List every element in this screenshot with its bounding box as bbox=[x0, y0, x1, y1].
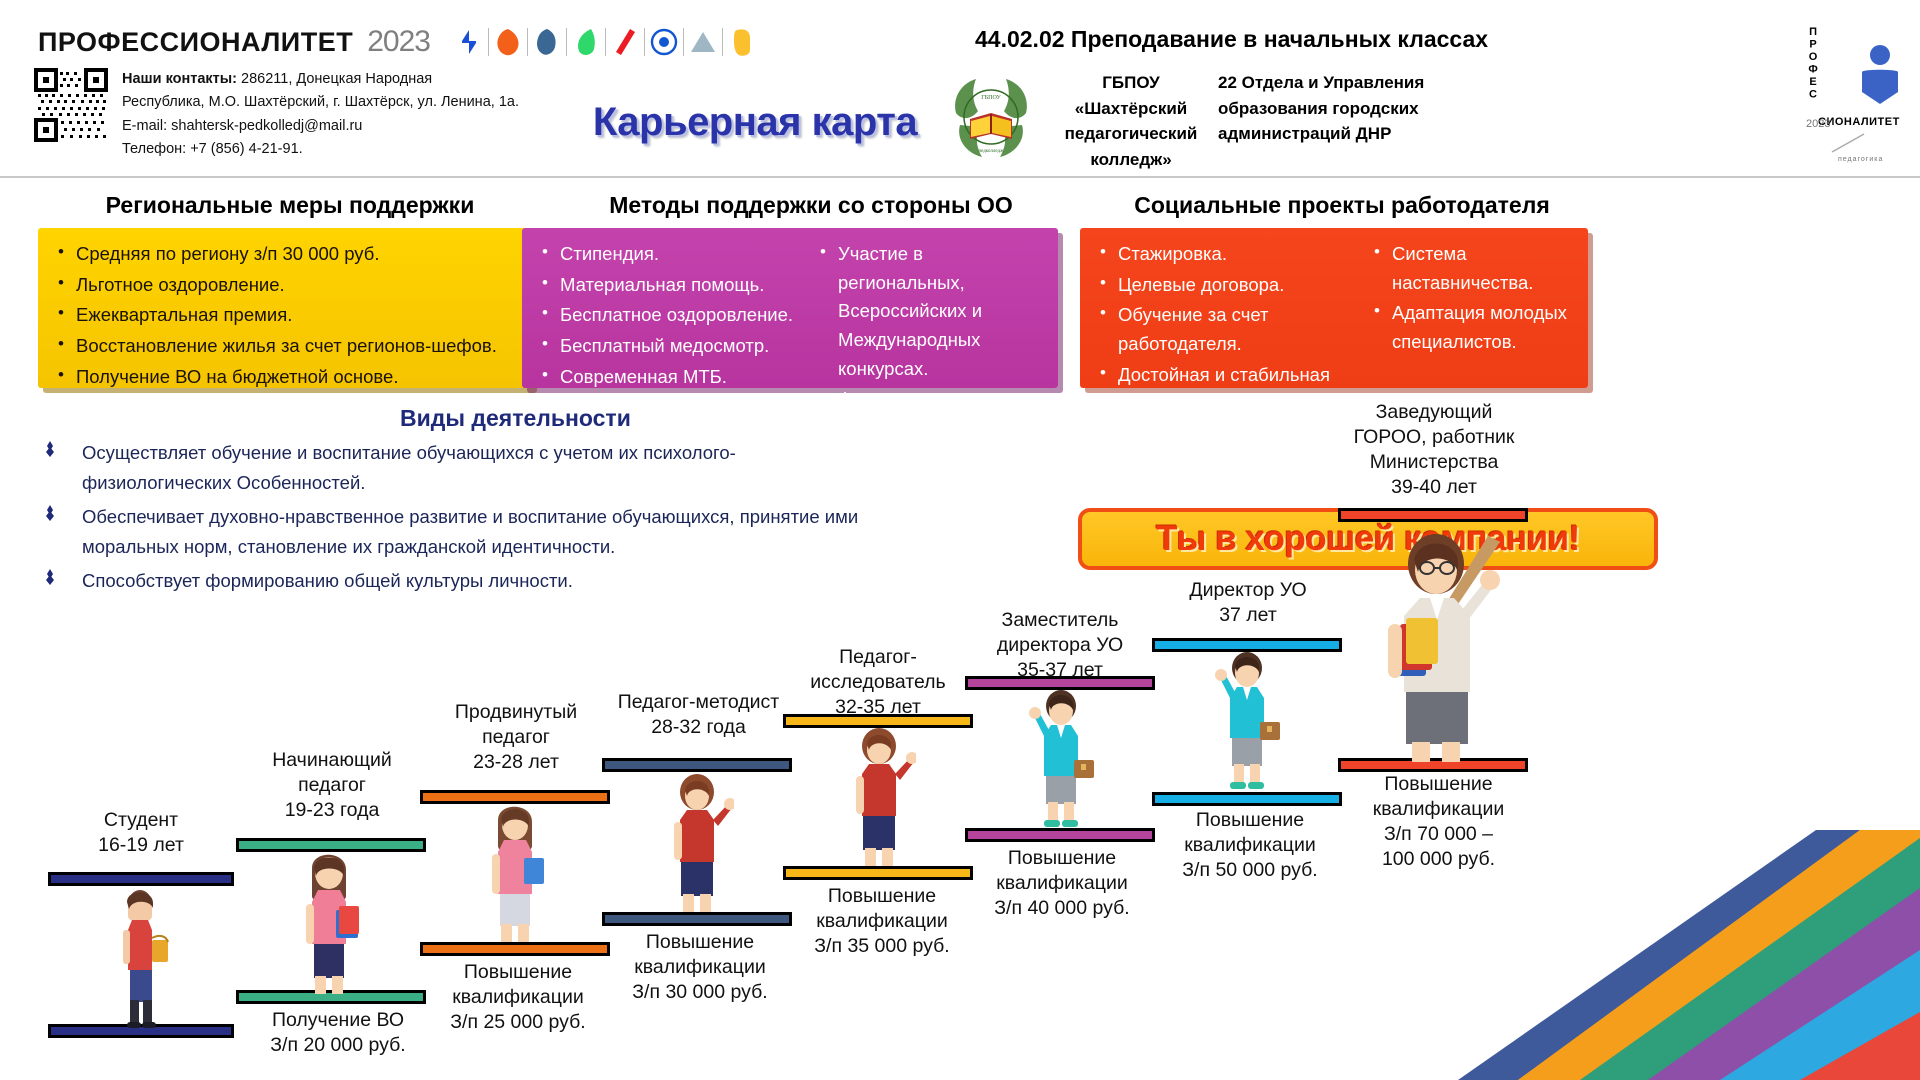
prof-year: 2023 bbox=[1806, 118, 1830, 130]
logo-orange-drop-icon bbox=[489, 22, 527, 62]
logo-red-slash-icon bbox=[606, 22, 644, 62]
role-age: 32-35 лет bbox=[778, 695, 978, 720]
panel-oo-support: Стипендия. Материальная помощь. Бесплатн… bbox=[522, 228, 1058, 388]
list-item: Система наставничества. bbox=[1368, 240, 1574, 297]
prof-subtitle: педагогика bbox=[1838, 156, 1883, 163]
ladder-label-student: Студент 16-19 лет bbox=[48, 808, 234, 858]
college-name: ГБПОУ «Шахтёрский педагогический колледж… bbox=[1048, 70, 1214, 172]
partner-logo-strip bbox=[450, 22, 761, 62]
ladder-label-methodist: Педагог-методист 28-32 года bbox=[596, 690, 801, 740]
panel-column: Система наставничества. Адаптация молоды… bbox=[1368, 240, 1574, 378]
specialty-code: 44.02.02 Преподавание в начальных класса… bbox=[975, 26, 1488, 53]
decorative-stripes bbox=[1200, 830, 1920, 1080]
contacts-phone: Телефон: +7 (856) 4-21-91. bbox=[122, 138, 519, 161]
panel-regional-support: Средняя по региону з/п 30 000 руб. Льгот… bbox=[38, 228, 532, 388]
role-name: Педагог- исследователь bbox=[778, 645, 978, 695]
diamond-bullet-icon bbox=[42, 569, 58, 585]
panel-title-oo-support: Методы поддержки со стороны ОО bbox=[556, 192, 1066, 219]
list-item: Получение ВО на бюджетной основе. bbox=[52, 363, 518, 392]
list-item: Стажировка. bbox=[1094, 240, 1362, 269]
role-age: 23-28 лет bbox=[416, 750, 616, 775]
ladder-label-director: Директор УО 37 лет bbox=[1148, 578, 1348, 628]
page-title: Карьерная карта bbox=[560, 100, 950, 145]
list-item: Материальная помощь. bbox=[536, 271, 808, 300]
list-item: Современная МТБ. bbox=[536, 363, 808, 392]
figure-advanced-teacher bbox=[478, 800, 552, 946]
college-emblem-icon: ГБПОУ педколледж bbox=[942, 73, 1040, 161]
contacts-address-1: 286211, Донецкая Народная bbox=[241, 71, 432, 87]
contacts-block: Наши контакты: 286211, Донецкая Народная… bbox=[34, 68, 519, 162]
activity-text: Способствует формированию общей культуры… bbox=[82, 570, 573, 591]
list-item: Обеспечивает духовно-нравственное развит… bbox=[36, 502, 876, 562]
ladder-label-deputy: Заместитель директора УО 35-37 лет bbox=[960, 608, 1160, 683]
header-divider bbox=[0, 176, 1920, 178]
panel-title-employer-projects: Социальные проекты работодателя bbox=[1082, 192, 1602, 219]
ladder-rung-director-base bbox=[1152, 792, 1342, 806]
logo-blue-drop-icon bbox=[528, 22, 566, 62]
figure-researcher bbox=[842, 724, 916, 870]
professionalitet-vertical-logo: ПРОФЕС СИОНАЛИТЕТ 2023 педагогика bbox=[1800, 20, 1918, 170]
svg-text:ГБПОУ: ГБПОУ bbox=[981, 95, 1001, 101]
ladder-rung-student-top bbox=[48, 872, 234, 886]
role-age: 19-23 года bbox=[232, 798, 432, 823]
qr-code-icon bbox=[34, 68, 108, 142]
list-item: Бесплатный медосмотр. bbox=[536, 332, 808, 361]
list-item: Стипендия. bbox=[536, 240, 808, 269]
logo-target-icon bbox=[645, 22, 683, 62]
list-item: Формирование цифрового портфолио. bbox=[814, 385, 1044, 442]
prof-slash-icon bbox=[1830, 132, 1868, 154]
career-map-poster: ПРОФЕССИОНАЛИТЕТ 2023 bbox=[0, 0, 1920, 1080]
list-item: Достойная и стабильная зарплата. bbox=[1094, 361, 1362, 418]
role-name: Заведующий ГОРОО, работник Министерства bbox=[1334, 400, 1534, 475]
logo-green-leaf-icon bbox=[567, 22, 605, 62]
list-item: Осуществляет обучение и воспитание обуча… bbox=[36, 438, 876, 498]
diamond-bullet-icon bbox=[42, 441, 58, 457]
panel-employer-projects: Стажировка. Целевые договора. Обучение з… bbox=[1080, 228, 1588, 388]
list-item: Средняя по региону з/п 30 000 руб. bbox=[52, 240, 518, 269]
activities-title: Виды деятельности bbox=[400, 405, 631, 432]
ladder-note-methodist: Повышение квалификации З/п 30 000 руб. bbox=[600, 930, 800, 1005]
panel-column: Стипендия. Материальная помощь. Бесплатн… bbox=[536, 240, 808, 378]
contacts-label: Наши контакты: bbox=[122, 71, 237, 87]
activity-text: Обеспечивает духовно-нравственное развит… bbox=[82, 506, 858, 557]
list-item: Обучение за счет работодателя. bbox=[1094, 301, 1362, 358]
brand-row: ПРОФЕССИОНАЛИТЕТ 2023 bbox=[38, 22, 761, 62]
logo-mountain-icon bbox=[684, 22, 722, 62]
brand-year: 2023 bbox=[367, 25, 430, 59]
ladder-note-advanced: Повышение квалификации З/п 25 000 руб. bbox=[418, 960, 618, 1035]
contacts-line-1: Наши контакты: 286211, Донецкая Народная bbox=[122, 68, 519, 91]
list-item: Участие в региональных, Всероссийских и … bbox=[814, 240, 1044, 383]
role-name: Педагог-методист bbox=[596, 690, 801, 715]
list-item: Восстановление жилья за счет регионов-ше… bbox=[52, 332, 518, 361]
logo-lightning-icon bbox=[450, 22, 488, 62]
figure-head-of-gorono bbox=[1376, 524, 1504, 764]
list-item: Бесплатное оздоровление. bbox=[536, 301, 808, 330]
role-age: 28-32 года bbox=[596, 715, 801, 740]
ladder-note-beginner: Получение ВО З/п 20 000 руб. bbox=[238, 1008, 438, 1058]
ladder-label-researcher: Педагог- исследователь 32-35 лет bbox=[778, 645, 978, 720]
panel-column: Средняя по региону з/п 30 000 руб. Льгот… bbox=[52, 240, 518, 378]
role-age: 37 лет bbox=[1148, 603, 1348, 628]
activities-list: Осуществляет обучение и воспитание обуча… bbox=[36, 438, 876, 600]
svg-text:педколледж: педколледж bbox=[978, 149, 1004, 154]
diamond-bullet-icon bbox=[42, 505, 58, 521]
role-name: Студент bbox=[48, 808, 234, 833]
figure-deputy-director bbox=[1024, 686, 1098, 832]
ladder-label-beginner: Начинающий педагог 19-23 года bbox=[232, 748, 432, 823]
figure-director bbox=[1210, 648, 1284, 794]
ladder-label-head: Заведующий ГОРОО, работник Министерства … bbox=[1334, 400, 1534, 500]
role-age: 35-37 лет bbox=[960, 658, 1160, 683]
role-name: Продвинутый педагог bbox=[416, 700, 616, 750]
role-name: Заместитель директора УО bbox=[960, 608, 1160, 658]
list-item: Льготное оздоровление. bbox=[52, 271, 518, 300]
contacts-text: Наши контакты: 286211, Донецкая Народная… bbox=[122, 68, 519, 162]
department-count: 22 Отдела и Управления образования город… bbox=[1218, 70, 1448, 147]
contacts-email[interactable]: E-mail: shahtersk-pedkolledj@mail.ru bbox=[122, 115, 519, 138]
figure-methodist bbox=[660, 770, 734, 916]
figure-student bbox=[110, 886, 174, 1028]
figure-beginner-teacher bbox=[292, 848, 366, 998]
panel-column: Участие в региональных, Всероссийских и … bbox=[814, 240, 1044, 378]
ladder-label-advanced: Продвинутый педагог 23-28 лет bbox=[416, 700, 616, 775]
role-name: Директор УО bbox=[1148, 578, 1348, 603]
list-item: Способствует формированию общей культуры… bbox=[36, 566, 876, 596]
list-item: Ежеквартальная премия. bbox=[52, 301, 518, 330]
logo-yellow-shape-icon bbox=[723, 22, 761, 62]
banner-text: Ты в хорошей компании! bbox=[1156, 519, 1580, 559]
role-name: Начинающий педагог bbox=[232, 748, 432, 798]
panel-column: Стажировка. Целевые договора. Обучение з… bbox=[1094, 240, 1362, 378]
role-age: 16-19 лет bbox=[48, 833, 234, 858]
prof-mark-icon bbox=[1852, 42, 1908, 108]
list-item: Адаптация молодых специалистов. bbox=[1368, 299, 1574, 356]
prof-vertical-word: ПРОФЕС bbox=[1808, 26, 1817, 101]
brand-wordmark: ПРОФЕССИОНАЛИТЕТ bbox=[38, 27, 353, 58]
list-item: Целевые договора. bbox=[1094, 271, 1362, 300]
ladder-rung-head-top bbox=[1338, 508, 1528, 522]
contacts-line-2: Республика, М.О. Шахтёрский, г. Шахтёрск… bbox=[122, 91, 519, 114]
role-age: 39-40 лет bbox=[1334, 475, 1534, 500]
panel-title-regional-support: Региональные меры поддержки bbox=[40, 192, 540, 219]
ladder-note-researcher: Повышение квалификации З/п 35 000 руб. bbox=[782, 884, 982, 959]
ladder-note-deputy: Повышение квалификации З/п 40 000 руб. bbox=[962, 846, 1162, 921]
activity-text: Осуществляет обучение и воспитание обуча… bbox=[82, 442, 736, 493]
